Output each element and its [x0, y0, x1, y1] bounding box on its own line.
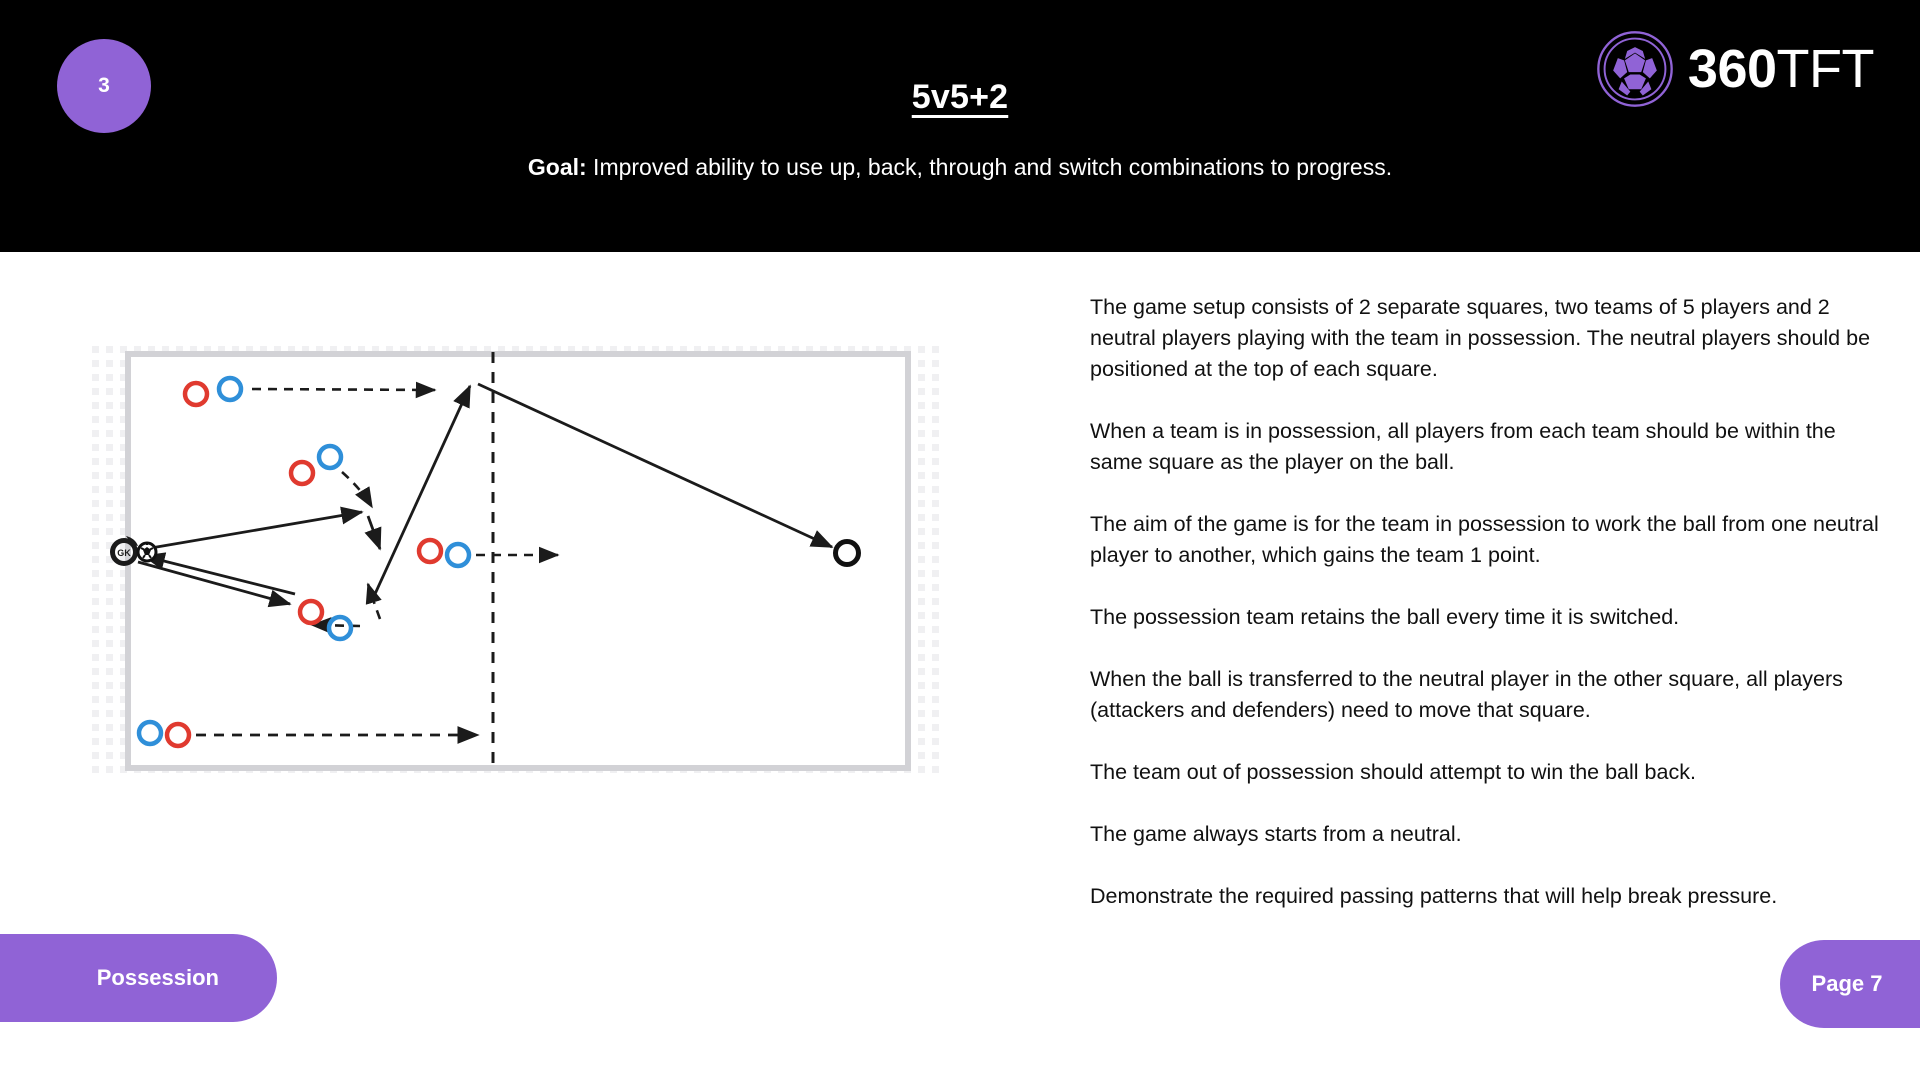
goal-statement: Goal: Improved ability to use up, back, …: [0, 152, 1920, 182]
instruction-paragraph: Demonstrate the required passing pattern…: [1090, 881, 1880, 912]
instruction-paragraph: The game always starts from a neutral.: [1090, 819, 1880, 850]
session-plan-page: 3 5v5+2 Goal: Improved ability to use up…: [0, 0, 1920, 1080]
logo-wordmark: 360TFT: [1688, 42, 1874, 96]
gk-label: GK: [117, 548, 131, 558]
topic-badge: Possession: [0, 934, 277, 1022]
goal-label: Goal:: [528, 154, 587, 180]
instruction-paragraph: When the ball is transferred to the neut…: [1090, 664, 1880, 726]
page-number-badge: Page 7: [1780, 940, 1920, 1028]
logo-primary-text: 360: [1688, 39, 1777, 99]
brand-logo: 360TFT: [1596, 30, 1874, 108]
instruction-paragraph: The team out of possession should attemp…: [1090, 757, 1880, 788]
soccer-ball-icon: [1596, 30, 1674, 108]
page-title: 5v5+2: [912, 78, 1009, 117]
instruction-paragraph: The possession team retains the ball eve…: [1090, 602, 1880, 633]
pitch-diagram: GK: [90, 344, 946, 778]
ball-icon: [138, 542, 156, 561]
page-number-label: Page 7: [1812, 971, 1883, 997]
page-header: 3 5v5+2 Goal: Improved ability to use up…: [0, 0, 1920, 252]
topic-label: Possession: [97, 965, 219, 991]
goal-text: Improved ability to use up, back, throug…: [587, 154, 1392, 180]
instruction-paragraph: When a team is in possession, all player…: [1090, 416, 1880, 478]
pitch-diagram-svg: GK: [90, 344, 946, 778]
instruction-paragraph: The aim of the game is for the team in p…: [1090, 509, 1880, 571]
instruction-paragraph: The game setup consists of 2 separate sq…: [1090, 292, 1880, 385]
page-content: GK The game setup consists of 2 separate…: [0, 252, 1920, 1080]
pitch-outline: [128, 354, 908, 768]
instructions-panel: The game setup consists of 2 separate sq…: [1090, 292, 1880, 912]
logo-secondary-text: TFT: [1777, 39, 1874, 99]
